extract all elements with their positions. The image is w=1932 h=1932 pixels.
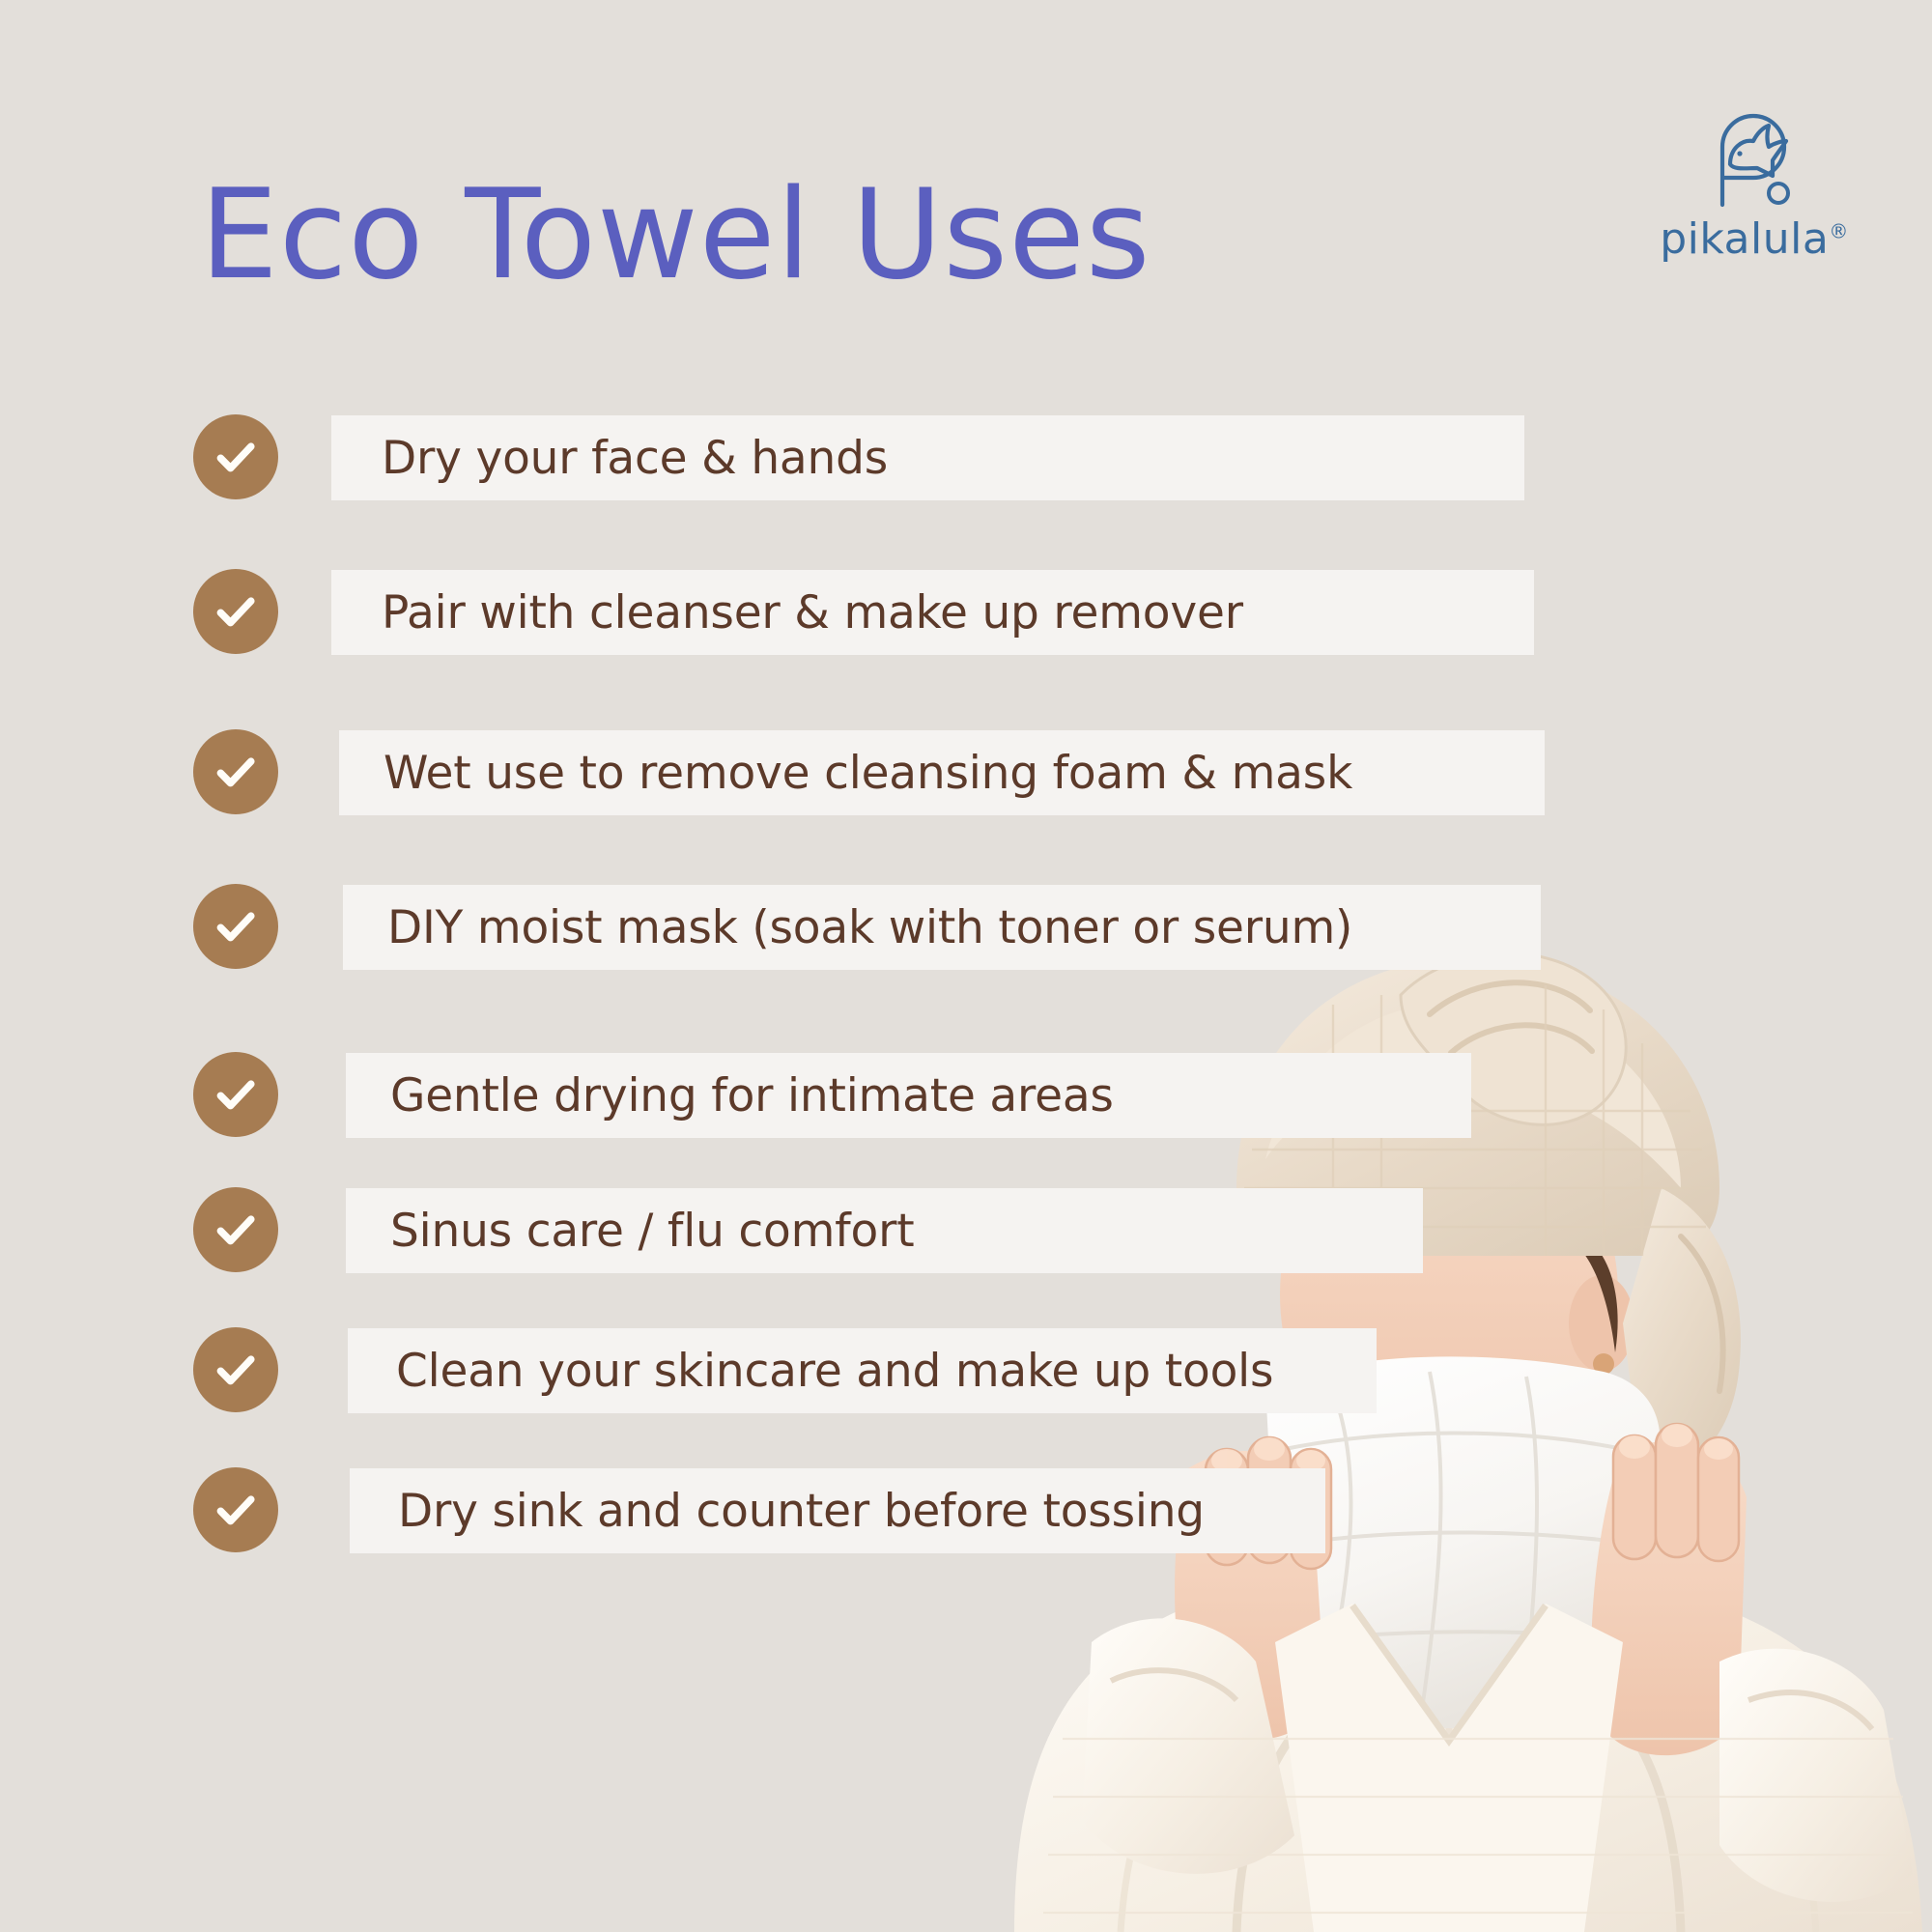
check-circle-icon <box>193 729 278 814</box>
list-item-label: Gentle drying for intimate areas <box>390 1069 1114 1122</box>
list-item-bar: DIY moist mask (soak with toner or serum… <box>343 885 1541 970</box>
list-item-bar: Sinus care / flu comfort <box>346 1188 1423 1273</box>
list-item-label: Dry your face & hands <box>382 432 888 485</box>
check-circle-icon <box>193 1052 278 1137</box>
list-item-label: Pair with cleanser & make up remover <box>382 586 1243 639</box>
page-title: Eco Towel Uses <box>200 174 1151 298</box>
list-item-bar: Pair with cleanser & make up remover <box>331 570 1534 655</box>
check-circle-icon <box>193 1467 278 1552</box>
check-circle-icon <box>193 1187 278 1272</box>
check-circle-icon <box>193 1327 278 1412</box>
check-circle-icon <box>193 884 278 969</box>
list-item-label: Wet use to remove cleansing foam & mask <box>384 747 1352 800</box>
registered-trademark-icon: ® <box>1829 219 1849 242</box>
rabbit-in-p-logo-icon <box>1701 108 1807 213</box>
list-item-label: Dry sink and counter before tossing <box>398 1485 1205 1538</box>
list-item-bar: Dry sink and counter before tossing <box>350 1468 1325 1553</box>
list-item-bar: Dry your face & hands <box>331 415 1524 500</box>
list-item-label: Sinus care / flu comfort <box>390 1205 914 1258</box>
list-item-label: DIY moist mask (soak with toner or serum… <box>387 901 1352 954</box>
list-item-bar: Clean your skincare and make up tools <box>348 1328 1377 1413</box>
brand-logo: pikalula® <box>1658 108 1851 272</box>
brand-wordmark: pikalula® <box>1660 214 1849 264</box>
list-item-label: Clean your skincare and make up tools <box>396 1345 1273 1398</box>
brand-name: pikalula <box>1660 214 1829 264</box>
list-item-bar: Wet use to remove cleansing foam & mask <box>339 730 1545 815</box>
check-circle-icon <box>193 414 278 499</box>
check-circle-icon <box>193 569 278 654</box>
poster-canvas: pikalula® Eco Towel Uses <box>0 0 1932 1932</box>
list-item-bar: Gentle drying for intimate areas <box>346 1053 1471 1138</box>
